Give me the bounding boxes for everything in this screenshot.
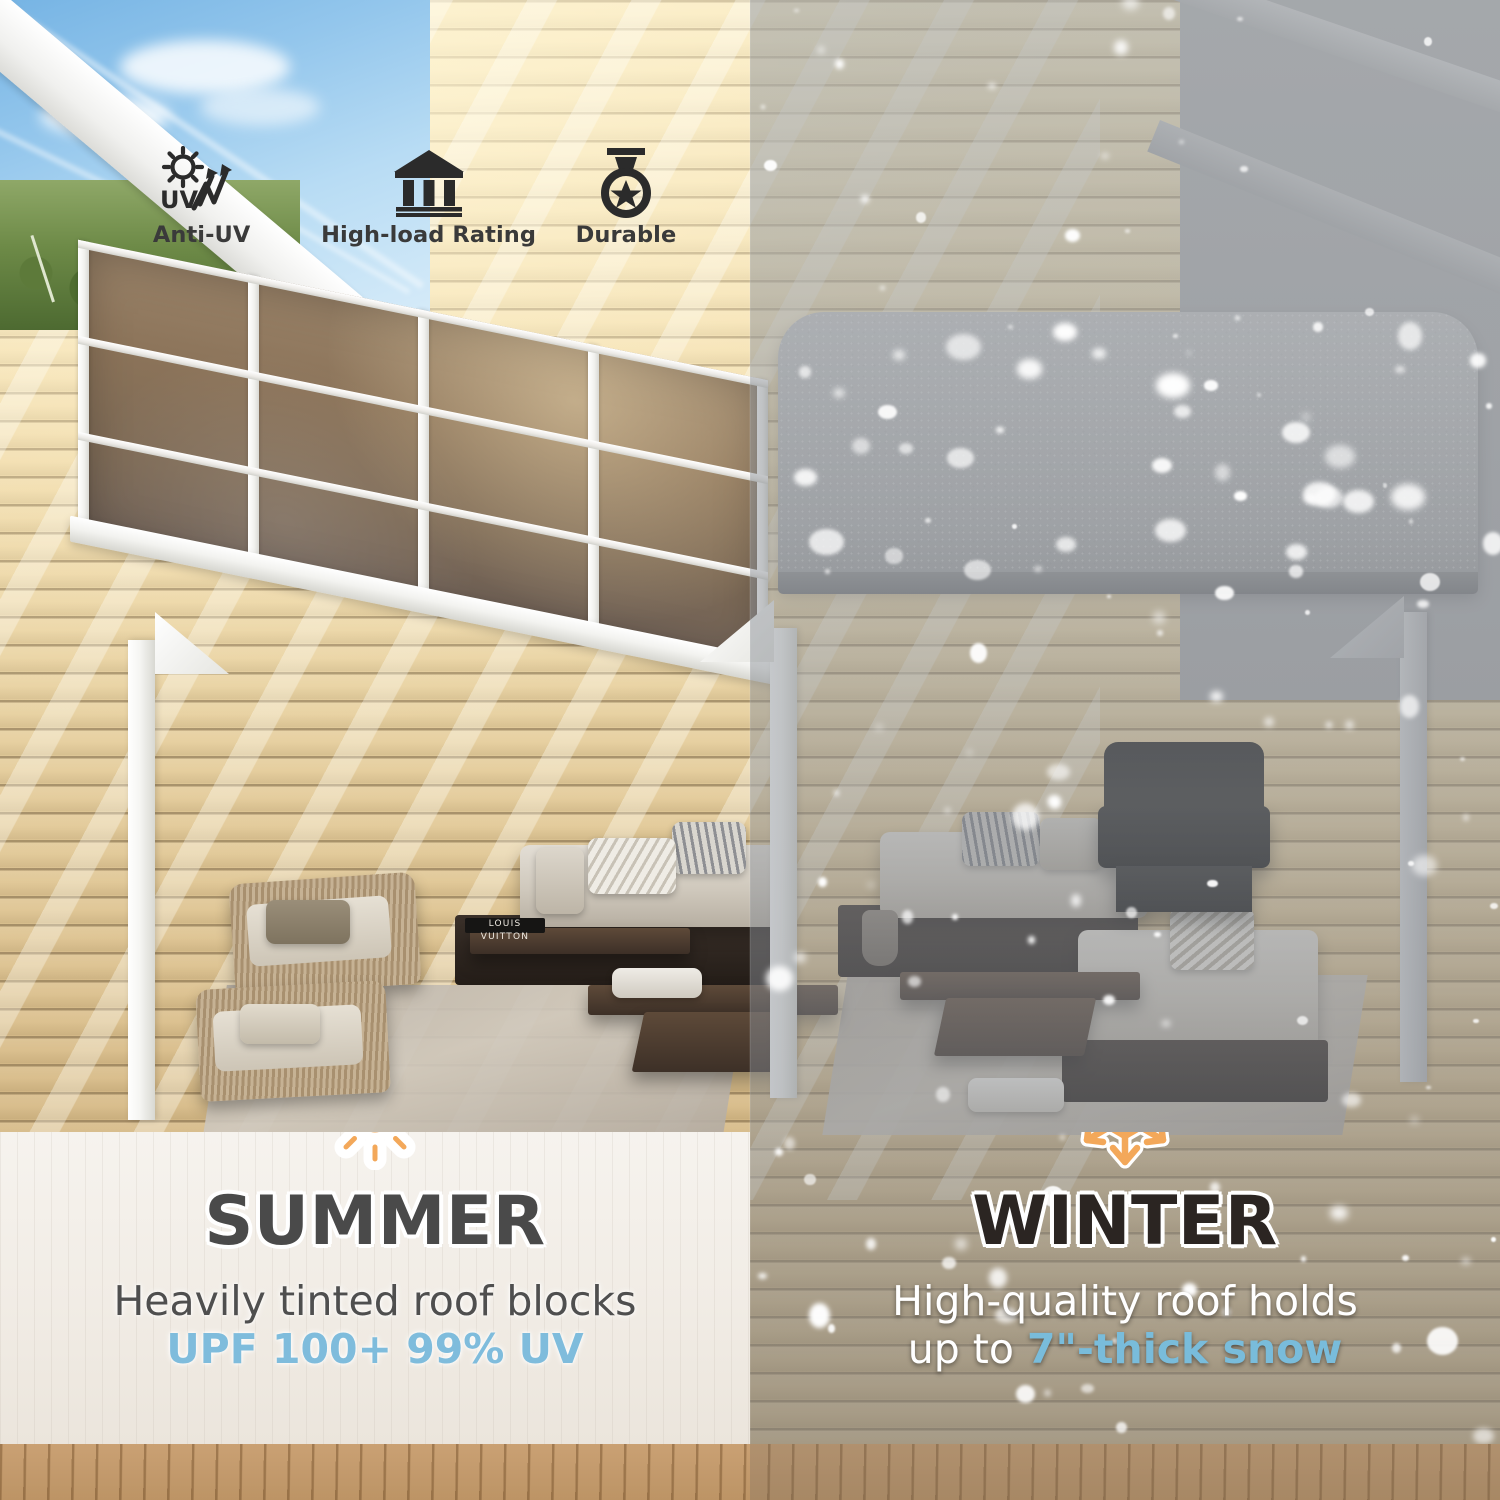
feature-high-load: High-load Rating [305, 146, 552, 248]
feature-label-durable: Durable [576, 222, 677, 248]
feature-durable: Durable [552, 146, 700, 248]
pillow-plain-right [1040, 818, 1102, 870]
pillow-striped-left [672, 822, 746, 874]
product-comparison-image: LOUIS VUITTON [0, 0, 1500, 1500]
summer-panel: SUMMER Heavily tinted roof blocks UPF 10… [0, 1132, 750, 1444]
feature-label-high-load: High-load Rating [321, 222, 536, 248]
pergola-post-left-rear [770, 628, 797, 1098]
feature-anti-uv: UV Anti-UV [98, 146, 305, 248]
book-louis-vuitton[interactable]: LOUIS VUITTON [465, 918, 545, 933]
chair-pillow-upper [266, 900, 350, 944]
summer-desc-line1: Heavily tinted roof blocks [113, 1277, 636, 1325]
pillow-armrest-left [536, 848, 584, 914]
open-magazine-left [612, 968, 702, 998]
winter-description: High-quality roof holds up to 7"-thick s… [750, 1278, 1500, 1373]
bottom-deck-strip [0, 1444, 1500, 1500]
durable-icon [593, 146, 659, 220]
summer-title: SUMMER [0, 1188, 750, 1256]
snow-roof-edge [778, 572, 1478, 594]
grill-lid [1104, 742, 1264, 810]
snowflake-icon [1073, 1132, 1177, 1170]
anti-uv-icon: UV [156, 146, 248, 220]
winter-title: WINTER [750, 1188, 1500, 1256]
winter-desc-line1: High-quality roof holds [892, 1277, 1358, 1325]
coffee-table-right [900, 972, 1140, 1000]
pillow-pattern-right [1170, 908, 1254, 970]
high-load-icon [390, 146, 468, 220]
coffee-table-leg-right [934, 998, 1096, 1056]
branch-vase [862, 910, 898, 966]
pergola-post-left-front [128, 640, 155, 1120]
chair-pillow-lower [240, 1004, 320, 1044]
winter-panel: WINTER High-quality roof holds up to 7"-… [750, 1132, 1500, 1444]
pillow-throw-left [588, 838, 676, 894]
summer-description: Heavily tinted roof blocks UPF 100+ 99% … [0, 1278, 750, 1373]
season-caption-panels: SUMMER Heavily tinted roof blocks UPF 10… [0, 1132, 1500, 1444]
snow-covered-roof [778, 312, 1478, 590]
sectional-base-right [1062, 1040, 1328, 1102]
pergola-post-right-rear [1400, 612, 1427, 1082]
grill-stand [1116, 866, 1252, 912]
sun-icon [323, 1132, 427, 1170]
summer-desc-highlight: UPF 100+ 99% UV [166, 1325, 583, 1373]
bbq-grill [1098, 806, 1270, 868]
feature-badge-row: UV Anti-UV [0, 146, 700, 264]
open-book-right [968, 1078, 1064, 1112]
feature-label-anti-uv: Anti-UV [153, 222, 251, 248]
winter-desc-highlight: 7"-thick snow [1027, 1325, 1342, 1373]
pillow-striped-right [962, 812, 1040, 866]
winter-desc-prefix: up to [908, 1325, 1027, 1373]
